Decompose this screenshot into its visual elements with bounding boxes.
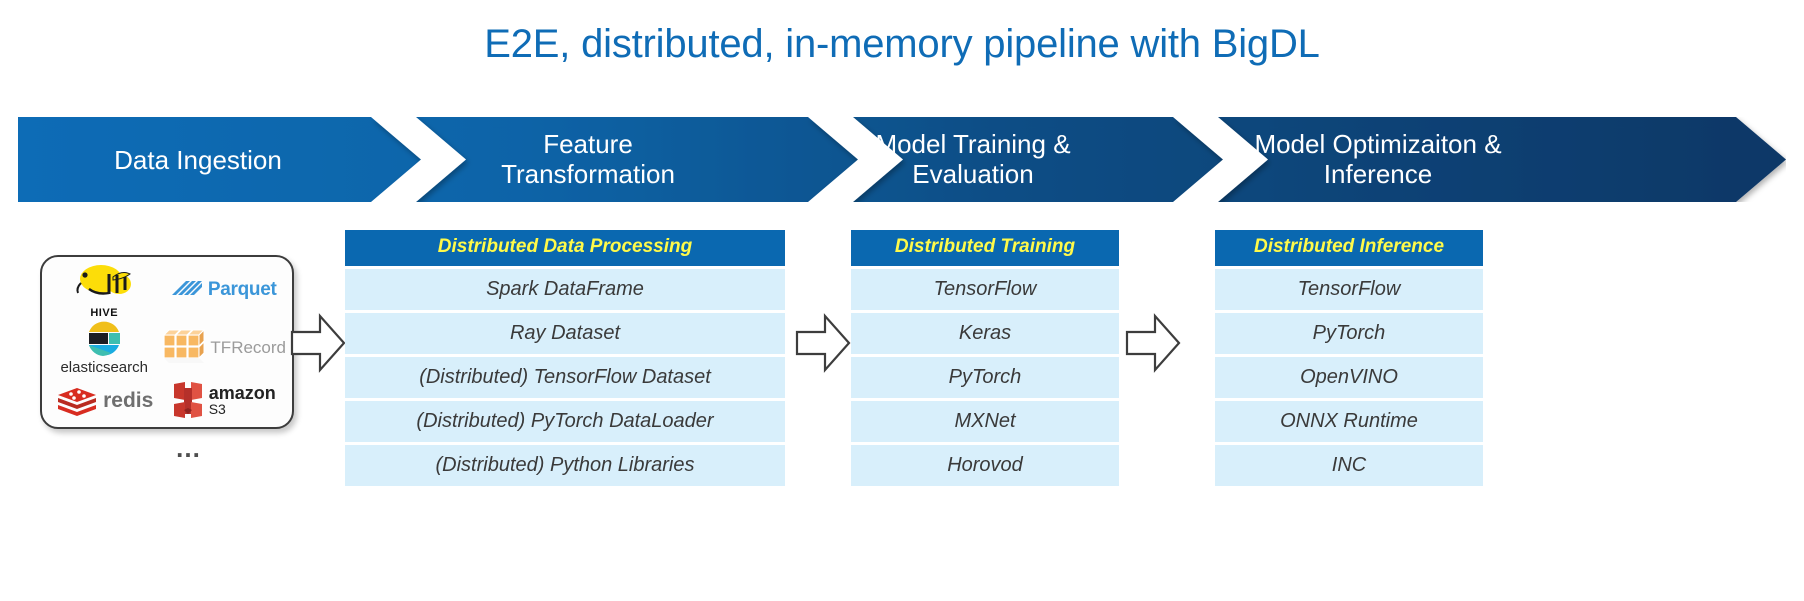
table-row[interactable]: ONNX Runtime — [1215, 401, 1483, 442]
flow-arrow-processing-to-training — [795, 312, 851, 379]
redis-stack-icon — [55, 386, 99, 416]
table-row[interactable]: (Distributed) TensorFlow Dataset — [345, 357, 785, 398]
elasticsearch-logo-label: elasticsearch — [60, 359, 148, 376]
hive-logo-label: HIVE — [90, 307, 118, 319]
table-row[interactable]: INC — [1215, 445, 1483, 486]
amazon-s3-logo-label: amazon — [209, 384, 276, 402]
tfrecord-logo: TFRecord — [160, 325, 286, 371]
data-sources-logo-grid: HIVE Parquet elastics — [42, 257, 292, 427]
pipeline-banner: Data Ingestion Feature Transformation Mo… — [18, 117, 1786, 202]
data-sources-box: HIVE Parquet elastics — [40, 255, 294, 429]
elasticsearch-icon — [83, 319, 125, 359]
right-arrow-icon — [290, 312, 346, 374]
table-row[interactable]: TensorFlow — [851, 269, 1119, 310]
table-row[interactable]: PyTorch — [851, 357, 1119, 398]
elasticsearch-logo: elasticsearch — [60, 319, 148, 376]
stage-label-feature-transformation: Feature Transformation — [418, 129, 758, 190]
table-row[interactable]: (Distributed) PyTorch DataLoader — [345, 401, 785, 442]
table-distributed-data-processing: Distributed Data Processing Spark DataFr… — [345, 230, 785, 486]
amazon-s3-logo: amazon S3 — [171, 380, 276, 422]
stage-label-model-training-evaluation: Model Training & Evaluation — [808, 129, 1138, 190]
table-row[interactable]: MXNet — [851, 401, 1119, 442]
table-row[interactable]: Ray Dataset — [345, 313, 785, 354]
table-row[interactable]: (Distributed) Python Libraries — [345, 445, 785, 486]
table-row[interactable]: Spark DataFrame — [345, 269, 785, 310]
amazon-s3-logo-sublabel: S3 — [209, 402, 226, 417]
table-row[interactable]: PyTorch — [1215, 313, 1483, 354]
table-row[interactable]: TensorFlow — [1215, 269, 1483, 310]
tfrecord-logo-label: TFRecord — [210, 338, 286, 358]
parquet-logo-label: Parquet — [208, 279, 277, 301]
tfrecord-cubes-icon — [160, 325, 206, 371]
redis-logo-label: redis — [103, 389, 153, 413]
right-arrow-icon — [795, 312, 851, 374]
table-header: Distributed Inference — [1215, 230, 1483, 266]
hive-logo: HIVE — [73, 261, 135, 319]
table-header: Distributed Data Processing — [345, 230, 785, 266]
hive-bee-icon — [73, 261, 135, 307]
table-distributed-training: Distributed Training TensorFlow Keras Py… — [851, 230, 1119, 486]
parquet-icon — [170, 277, 204, 303]
flow-arrow-ingestion-to-processing — [290, 312, 346, 379]
sources-ellipsis: … — [175, 433, 203, 464]
table-row[interactable]: Keras — [851, 313, 1119, 354]
table-row[interactable]: OpenVINO — [1215, 357, 1483, 398]
table-header: Distributed Training — [851, 230, 1119, 266]
amazon-s3-bucket-icon — [171, 380, 205, 422]
redis-logo: redis — [55, 386, 153, 416]
flow-arrow-training-to-inference — [1125, 312, 1181, 379]
stage-label-data-ingestion: Data Ingestion — [38, 145, 358, 175]
page-title: E2E, distributed, in-memory pipeline wit… — [0, 22, 1804, 67]
right-arrow-icon — [1125, 312, 1181, 374]
stage-label-model-optimization-inference: Model Optimizaiton & Inference — [1193, 129, 1563, 190]
table-distributed-inference: Distributed Inference TensorFlow PyTorch… — [1215, 230, 1483, 486]
table-row[interactable]: Horovod — [851, 445, 1119, 486]
parquet-logo: Parquet — [170, 277, 277, 303]
